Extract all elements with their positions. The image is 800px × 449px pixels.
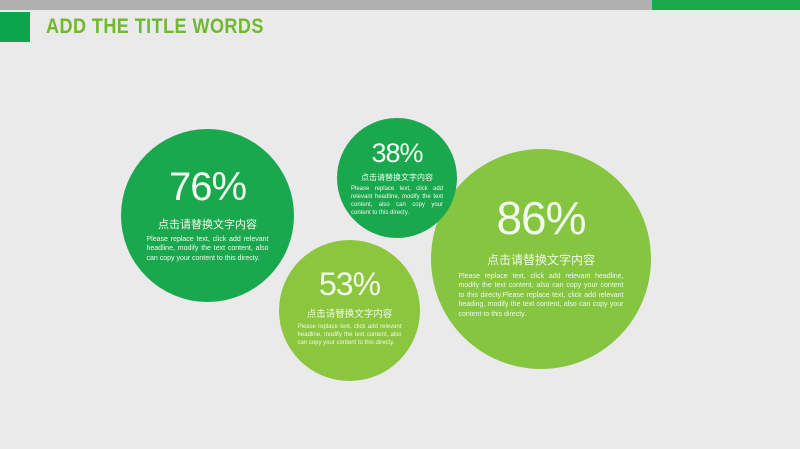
slide-canvas: ADD THE TITLE WORDS 76% 点击请替换文字内容 Please… bbox=[0, 0, 800, 449]
stat-percent-53: 53% bbox=[319, 268, 380, 300]
top-bar-green-segment bbox=[652, 0, 800, 10]
stat-bubble-38[interactable]: 38% 点击请替换文字内容 Please replace text, click… bbox=[337, 118, 457, 238]
page-title: ADD THE TITLE WORDS bbox=[46, 15, 264, 39]
page-title-block: ADD THE TITLE WORDS bbox=[0, 12, 299, 42]
stat-heading-86: 点击请替换文字内容 bbox=[487, 251, 595, 268]
stat-body-86: Please replace text, click add relevant … bbox=[459, 272, 624, 319]
stat-bubble-76[interactable]: 76% 点击请替换文字内容 Please replace text, click… bbox=[121, 129, 294, 302]
stat-heading-38: 点击请替换文字内容 bbox=[361, 172, 433, 183]
stat-body-76: Please replace text, click add relevant … bbox=[147, 235, 269, 263]
top-decorative-bar bbox=[0, 0, 800, 10]
stat-heading-76: 点击请替换文字内容 bbox=[158, 216, 257, 232]
top-bar-gray-segment bbox=[0, 0, 652, 10]
stat-bubble-53[interactable]: 53% 点击请替换文字内容 Please replace text, click… bbox=[279, 240, 420, 381]
title-accent-square bbox=[0, 12, 30, 42]
stat-heading-53: 点击请替换文字内容 bbox=[307, 306, 393, 320]
stat-percent-38: 38% bbox=[371, 140, 422, 167]
stat-body-53: Please replace text, click add relevant … bbox=[298, 323, 402, 347]
stat-percent-86: 86% bbox=[496, 195, 585, 241]
stat-bubble-86[interactable]: 86% 点击请替换文字内容 Please replace text, click… bbox=[431, 149, 651, 369]
stat-percent-76: 76% bbox=[169, 167, 246, 207]
stat-body-38: Please replace text, click add relevant … bbox=[351, 185, 443, 217]
